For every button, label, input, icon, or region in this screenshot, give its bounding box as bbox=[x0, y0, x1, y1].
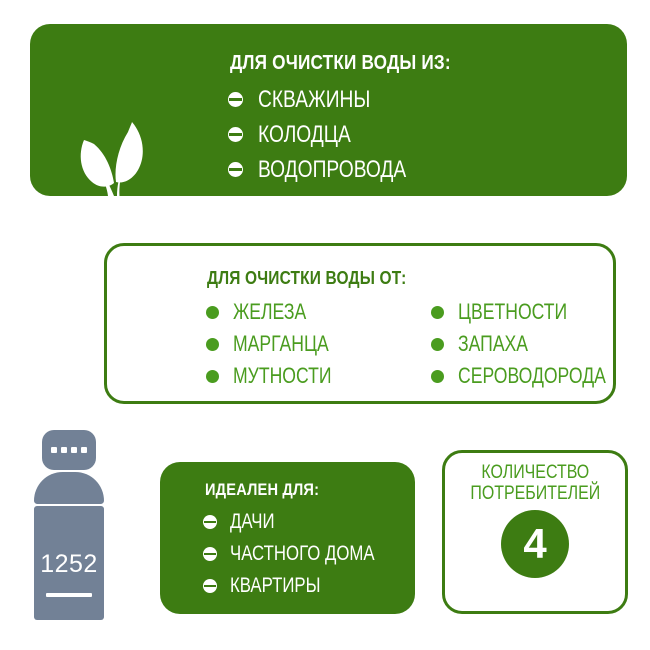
tank-model-number: 1252 bbox=[34, 550, 104, 579]
dot-bullet-icon bbox=[206, 338, 219, 351]
list-item-label: ДАЧИ bbox=[230, 510, 275, 534]
consumer-count-title-line1: КОЛИЧЕСТВО bbox=[470, 462, 600, 483]
list-item: ДАЧИ bbox=[203, 506, 411, 538]
list-item-label: КОЛОДЦА bbox=[258, 121, 351, 149]
list-item-label: ЦВЕТНОСТИ bbox=[458, 299, 567, 325]
list-item: КВАРТИРЫ bbox=[203, 570, 411, 602]
minus-circle-icon bbox=[228, 162, 243, 177]
list-item-label: ЧАСТНОГО ДОМА bbox=[230, 542, 375, 566]
list-item: ЧАСТНОГО ДОМА bbox=[203, 538, 411, 570]
list-item: СКВАЖИНЫ bbox=[228, 82, 443, 117]
list-item-label: ВОДОПРОВОДА bbox=[258, 156, 406, 184]
list-item-label: КВАРТИРЫ bbox=[230, 574, 321, 598]
card-contaminants-heading: ДЛЯ ОЧИСТКИ ВОДЫ ОТ: bbox=[207, 268, 406, 289]
dot-bullet-icon bbox=[431, 370, 444, 383]
list-item: ЗАПАХА bbox=[431, 328, 643, 360]
filter-cap-icon bbox=[42, 430, 96, 470]
card-water-sources-heading: ДЛЯ ОЧИСТКИ ВОДЫ ИЗ: bbox=[230, 52, 451, 75]
card-consumer-count: КОЛИЧЕСТВО ПОТРЕБИТЕЛЕЙ 4 bbox=[442, 450, 628, 614]
cap-dot-icon bbox=[81, 447, 87, 453]
dot-bullet-icon bbox=[206, 370, 219, 383]
list-item: МУТНОСТИ bbox=[206, 360, 356, 392]
dot-bullet-icon bbox=[431, 306, 444, 319]
consumer-count-badge: 4 bbox=[501, 510, 569, 578]
minus-circle-icon bbox=[203, 515, 217, 529]
list-item-label: ЖЕЛЕЗА bbox=[233, 299, 306, 325]
list-item: МАРГАНЦА bbox=[206, 328, 356, 360]
list-item: ЦВЕТНОСТИ bbox=[431, 296, 643, 328]
filter-tank-icon: 1252 bbox=[30, 430, 108, 620]
card-ideal-for-heading: ИДЕАЛЕН ДЛЯ: bbox=[205, 480, 319, 500]
infographic-canvas: ДЛЯ ОЧИСТКИ ВОДЫ ИЗ: СКВАЖИНЫ КОЛОДЦА ВО… bbox=[0, 0, 650, 650]
list-item-label: МАРГАНЦА bbox=[233, 331, 329, 357]
contaminants-columns: ЖЕЛЕЗА МАРГАНЦА МУТНОСТИ ЦВЕТНОСТИ bbox=[206, 296, 643, 392]
sprout-leaf-icon bbox=[70, 120, 180, 196]
tank-body: 1252 bbox=[34, 506, 104, 620]
cap-dot-icon bbox=[71, 447, 77, 453]
minus-circle-icon bbox=[228, 127, 243, 142]
list-item-label: СЕРОВОДОРОДА bbox=[458, 363, 606, 389]
card-contaminants: ДЛЯ ОЧИСТКИ ВОДЫ ОТ: ЖЕЛЕЗА МАРГАНЦА МУТ… bbox=[104, 243, 616, 404]
list-item: ЖЕЛЕЗА bbox=[206, 296, 356, 328]
list-item: КОЛОДЦА bbox=[228, 117, 443, 152]
tank-shoulder bbox=[34, 472, 104, 504]
minus-circle-icon bbox=[203, 547, 217, 561]
list-item-label: МУТНОСТИ bbox=[233, 363, 332, 389]
card-ideal-for: ИДЕАЛЕН ДЛЯ: ДАЧИ ЧАСТНОГО ДОМА КВАРТИРЫ bbox=[160, 462, 415, 614]
consumer-count-title: КОЛИЧЕСТВО ПОТРЕБИТЕЛЕЙ bbox=[470, 462, 600, 504]
minus-circle-icon bbox=[228, 92, 243, 107]
minus-circle-icon bbox=[203, 579, 217, 593]
consumer-count-title-line2: ПОТРЕБИТЕЛЕЙ bbox=[470, 483, 600, 504]
contaminants-column-right: ЦВЕТНОСТИ ЗАПАХА СЕРОВОДОРОДА bbox=[431, 296, 643, 392]
cap-dot-icon bbox=[51, 447, 57, 453]
water-sources-list: СКВАЖИНЫ КОЛОДЦА ВОДОПРОВОДА bbox=[228, 82, 443, 187]
list-item: ВОДОПРОВОДА bbox=[228, 152, 443, 187]
dot-bullet-icon bbox=[206, 306, 219, 319]
card-water-sources: ДЛЯ ОЧИСТКИ ВОДЫ ИЗ: СКВАЖИНЫ КОЛОДЦА ВО… bbox=[30, 24, 627, 196]
list-item-label: СКВАЖИНЫ bbox=[258, 86, 370, 114]
list-item: СЕРОВОДОРОДА bbox=[431, 360, 643, 392]
dot-bullet-icon bbox=[431, 338, 444, 351]
ideal-for-list: ДАЧИ ЧАСТНОГО ДОМА КВАРТИРЫ bbox=[203, 506, 411, 602]
tank-stripe bbox=[46, 593, 92, 597]
contaminants-column-left: ЖЕЛЕЗА МАРГАНЦА МУТНОСТИ bbox=[206, 296, 356, 392]
cap-dot-icon bbox=[61, 447, 67, 453]
list-item-label: ЗАПАХА bbox=[458, 331, 528, 357]
